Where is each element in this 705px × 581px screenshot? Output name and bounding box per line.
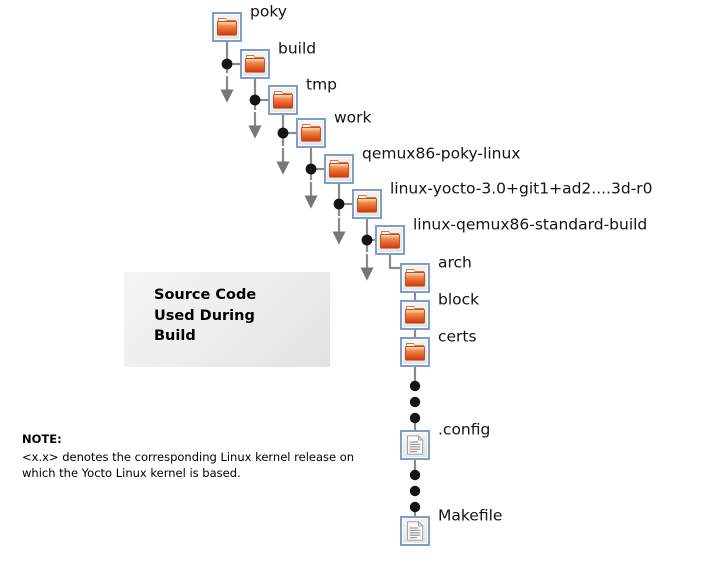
node-label: qemux86-poky-linux [362, 146, 520, 162]
note-title: NOTE: [22, 432, 382, 448]
file-icon [400, 516, 430, 546]
node-label: certs [438, 329, 477, 345]
folder-icon [352, 189, 382, 219]
file-icon [400, 430, 430, 460]
node-label: block [438, 292, 479, 308]
tree-connectors [0, 0, 705, 581]
node-label: tmp [306, 77, 337, 93]
folder-icon [400, 337, 430, 367]
node-label: arch [438, 255, 472, 271]
ellipsis-dots-upper [410, 381, 420, 423]
node-label: poky [250, 4, 287, 20]
note-body: <x.x> denotes the corresponding Linux ke… [22, 449, 382, 482]
folder-icon [296, 118, 326, 148]
folder-icon [212, 12, 242, 42]
note-block: NOTE: <x.x> denotes the corresponding Li… [22, 432, 382, 481]
ellipsis-dots-lower [410, 470, 420, 512]
node-label: work [334, 110, 372, 126]
folder-icon [268, 85, 298, 115]
directory-tree-diagram: poky build tmp [0, 0, 705, 581]
folder-icon [400, 300, 430, 330]
source-code-callout-text: Source Code Used During Build [154, 285, 256, 347]
node-label: build [278, 41, 316, 57]
node-label: linux-yocto-3.0+git1+ad2....3d-r0 [390, 181, 653, 197]
folder-icon [375, 225, 405, 255]
node-label: linux-qemux86-standard-build [413, 217, 647, 233]
node-label: .config [438, 422, 490, 438]
folder-icon [324, 154, 354, 184]
node-label: Makefile [438, 508, 502, 524]
folder-icon [400, 263, 430, 293]
folder-icon [240, 49, 270, 79]
source-code-callout: Source Code Used During Build [124, 272, 330, 367]
